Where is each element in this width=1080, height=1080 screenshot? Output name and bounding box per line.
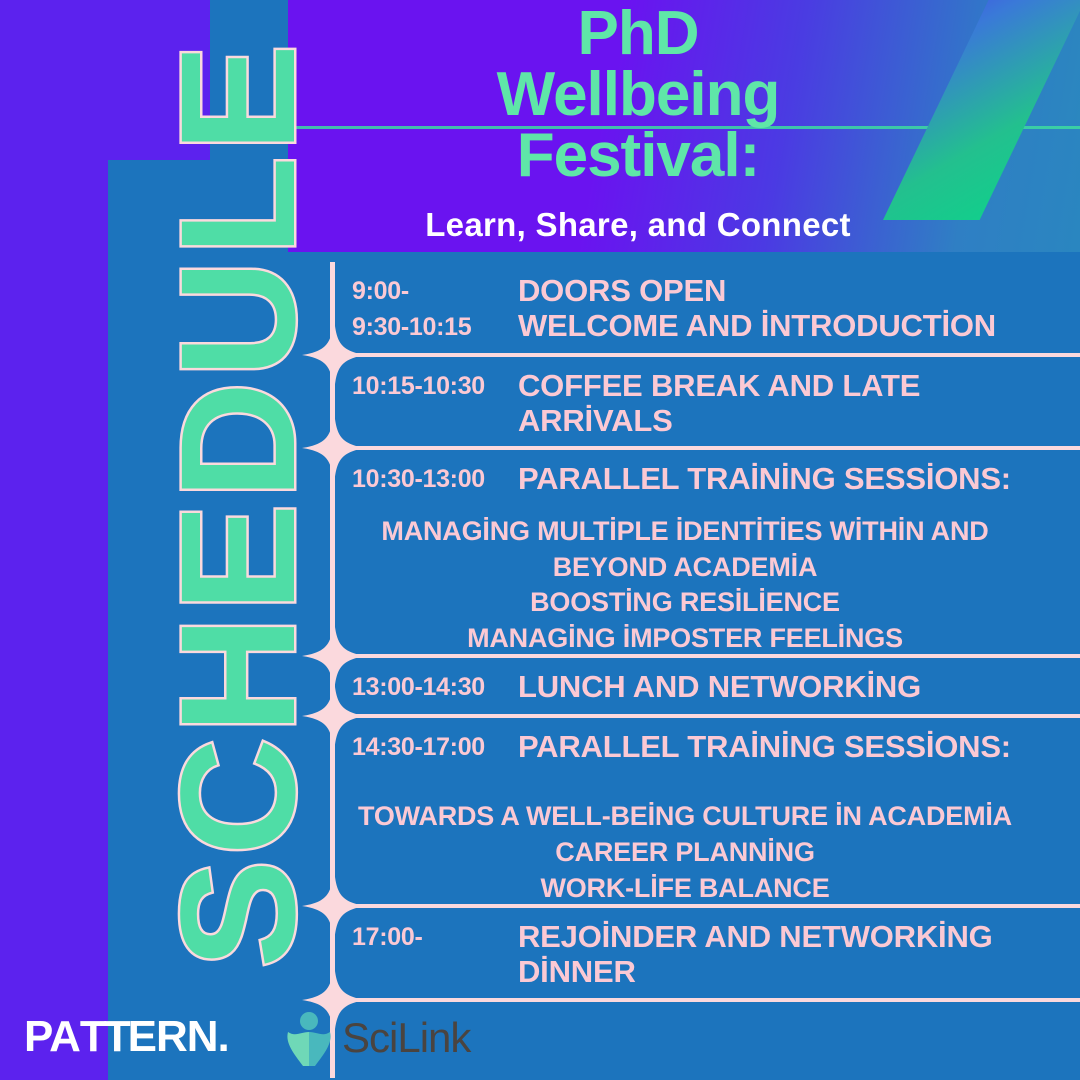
title-value: COFFEE BREAK AND LATE ARRİVALS bbox=[518, 369, 1080, 438]
schedule-row: 10:15-10:30COFFEE BREAK AND LATE ARRİVAL… bbox=[330, 357, 1080, 450]
time-value: 9:00- bbox=[352, 274, 518, 310]
schedule-row-subitems: MANAGİNG MULTİPLE İDENTİTİES WİTHİN AND … bbox=[330, 510, 1080, 659]
schedule-row-time: 10:30-13:00 bbox=[352, 462, 518, 498]
schedule-row: 17:00-REJOİNDER AND NETWORKİNG DİNNER bbox=[330, 908, 1080, 1001]
pattern-logo-part3: ERN. bbox=[128, 1012, 229, 1062]
schedule-row-title: REJOİNDER AND NETWORKİNG DİNNER bbox=[518, 920, 1080, 989]
title-value: LUNCH AND NETWORKİNG bbox=[518, 670, 1080, 705]
title-line-2: Wellbeing bbox=[288, 65, 988, 126]
background-purple-top-left bbox=[0, 0, 210, 160]
title-line-1: PhD bbox=[288, 4, 988, 65]
schedule-row-title: DOORS OPENWELCOME AND İNTRODUCTİON bbox=[518, 274, 1080, 343]
scilink-logo: SciLink bbox=[282, 1010, 470, 1066]
time-value: 9:30-10:15 bbox=[352, 310, 518, 346]
time-value: 13:00-14:30 bbox=[352, 670, 518, 706]
poster-canvas: PhD Wellbeing Festival: Learn, Share, an… bbox=[0, 0, 1080, 1080]
schedule-row-title: PARALLEL TRAİNİNG SESSİONS: bbox=[518, 462, 1080, 497]
schedule-row-separator bbox=[330, 998, 1080, 1002]
schedule-row-title: PARALLEL TRAİNİNG SESSİONS: bbox=[518, 730, 1080, 765]
time-value: 10:30-13:00 bbox=[352, 462, 518, 498]
title-line-3: Festival: bbox=[288, 126, 988, 187]
schedule-row-inner: 9:00-9:30-10:15DOORS OPENWELCOME AND İNT… bbox=[330, 262, 1080, 357]
schedule-row: 10:30-13:00PARALLEL TRAİNİNG SESSİONS:MA… bbox=[330, 450, 1080, 658]
schedule-row: 14:30-17:00PARALLEL TRAİNİNG SESSİONS:TO… bbox=[330, 718, 1080, 908]
schedule-row-inner: 10:30-13:00PARALLEL TRAİNİNG SESSİONS: bbox=[330, 450, 1080, 510]
schedule-row-time: 9:00-9:30-10:15 bbox=[352, 274, 518, 345]
scilink-wordmark: SciLink bbox=[342, 1014, 470, 1062]
schedule-row-time: 10:15-10:30 bbox=[352, 369, 518, 405]
pattern-logo-part2: TT bbox=[80, 1012, 128, 1062]
title-value: WELCOME AND İNTRODUCTİON bbox=[518, 309, 1080, 344]
subitem-value: CAREER PLANNİNG bbox=[330, 835, 1040, 871]
subitem-value: WORK-LİFE BALANCE bbox=[330, 871, 1040, 907]
schedule-row-subitems: TOWARDS A WELL-BEİNG CULTURE İN ACADEMİA… bbox=[330, 777, 1080, 908]
schedule-row: 9:00-9:30-10:15DOORS OPENWELCOME AND İNT… bbox=[330, 262, 1080, 357]
subitem-value: MANAGİNG MULTİPLE İDENTİTİES WİTHİN AND … bbox=[330, 514, 1040, 585]
schedule-row-inner: 17:00-REJOİNDER AND NETWORKİNG DİNNER bbox=[330, 908, 1080, 1001]
page-subtitle: Learn, Share, and Connect bbox=[288, 206, 988, 244]
schedule-row-time: 14:30-17:00 bbox=[352, 730, 518, 766]
schedule-row-time: 17:00- bbox=[352, 920, 518, 956]
schedule-row-inner: 10:15-10:30COFFEE BREAK AND LATE ARRİVAL… bbox=[330, 357, 1080, 450]
schedule-row-title: LUNCH AND NETWORKİNG bbox=[518, 670, 1080, 705]
schedule-list: 9:00-9:30-10:15DOORS OPENWELCOME AND İNT… bbox=[330, 262, 1080, 1080]
title-value: DOORS OPEN bbox=[518, 274, 1080, 309]
background-purple-left-column bbox=[0, 160, 108, 1080]
title-value: REJOİNDER AND NETWORKİNG DİNNER bbox=[518, 920, 1080, 989]
time-value: 17:00- bbox=[352, 920, 518, 956]
schedule-row-time: 13:00-14:30 bbox=[352, 670, 518, 706]
title-value: PARALLEL TRAİNİNG SESSİONS: bbox=[518, 462, 1080, 497]
scilink-person-icon bbox=[282, 1010, 336, 1066]
spacer bbox=[330, 781, 1040, 799]
subitem-value: TOWARDS A WELL-BEİNG CULTURE İN ACADEMİA bbox=[330, 799, 1040, 835]
schedule-row-inner: 13:00-14:30LUNCH AND NETWORKİNG bbox=[330, 658, 1080, 718]
time-value: 10:15-10:30 bbox=[352, 369, 518, 405]
pattern-logo: PATTERN. bbox=[24, 1012, 229, 1062]
page-title: PhD Wellbeing Festival: bbox=[288, 4, 988, 186]
schedule-rows-container: 9:00-9:30-10:15DOORS OPENWELCOME AND İNT… bbox=[330, 262, 1080, 1002]
subitem-value: BOOSTİNG RESİLİENCE bbox=[330, 585, 1040, 621]
pattern-logo-part1: PA bbox=[24, 1012, 80, 1062]
title-value: PARALLEL TRAİNİNG SESSİONS: bbox=[518, 730, 1080, 765]
schedule-row: 13:00-14:30LUNCH AND NETWORKİNG bbox=[330, 658, 1080, 718]
time-value: 14:30-17:00 bbox=[352, 730, 518, 766]
schedule-row-title: COFFEE BREAK AND LATE ARRİVALS bbox=[518, 369, 1080, 438]
schedule-row-inner: 14:30-17:00PARALLEL TRAİNİNG SESSİONS: bbox=[330, 718, 1080, 778]
subitem-value: MANAGİNG İMPOSTER FEELİNGS bbox=[330, 621, 1040, 657]
